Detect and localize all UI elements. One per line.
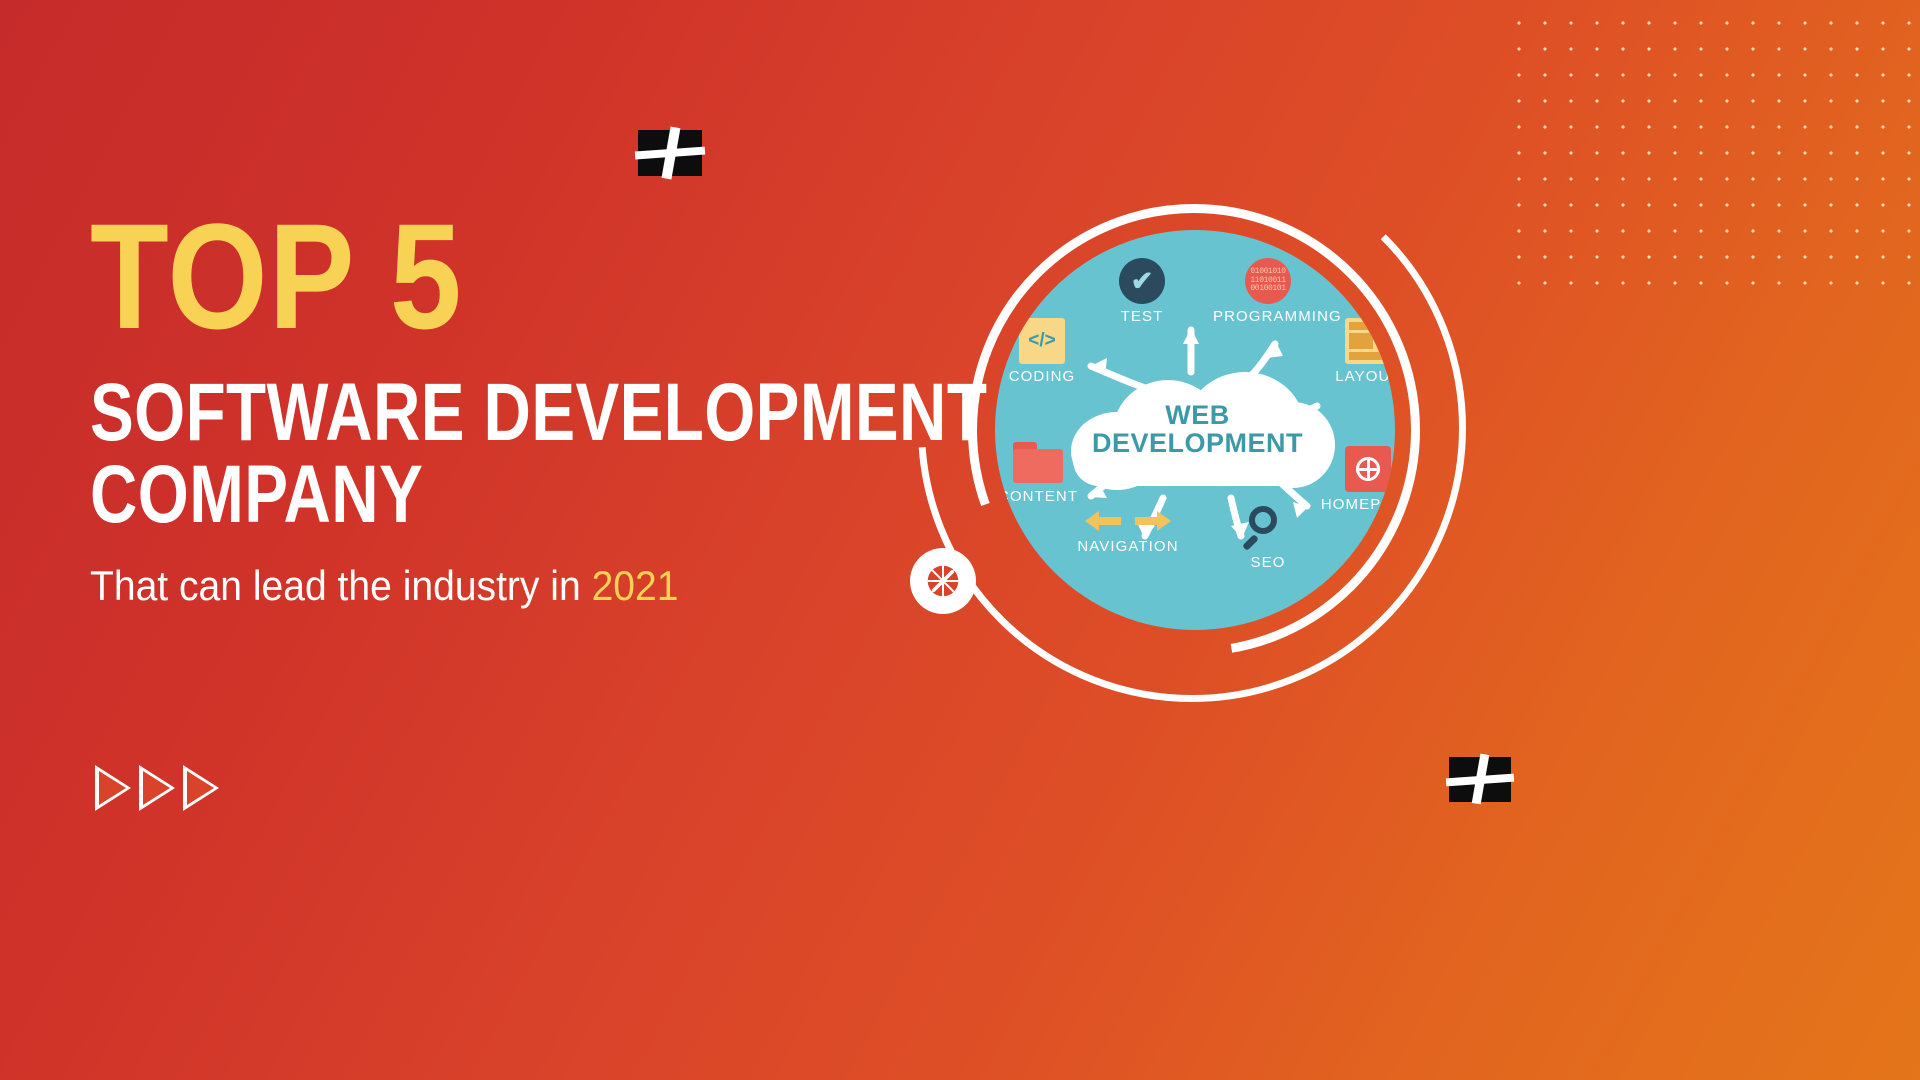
node-coding: </> CODING: [995, 318, 1097, 385]
folder-icon: [1013, 442, 1063, 484]
wireframe-row: [1349, 322, 1387, 330]
page-title: SOFTWARE DEVELOPMENT COMPANY: [90, 372, 794, 536]
folder-body: [1013, 449, 1063, 483]
double-arrow-glyph: [1085, 509, 1171, 533]
triangle-arrow-icon: [183, 765, 219, 811]
web-development-cloud: WEB DEVELOPMENT: [1065, 372, 1330, 494]
web-development-infographic: WEB DEVELOPMENT </> CODING ✔ TEST 010010…: [900, 130, 1500, 730]
wireframe-row: [1349, 352, 1387, 360]
triangle-arrow-icon: [95, 765, 131, 811]
check-circle-icon: ✔: [1119, 258, 1165, 304]
eyebrow-heading: TOP 5: [90, 215, 847, 338]
node-label-content: CONTENT: [995, 488, 1093, 505]
node-layout: LAYOUT: [1313, 318, 1395, 385]
gear-icon: [910, 548, 976, 614]
magnifier-lens: [1249, 506, 1277, 534]
node-label-layout: LAYOUT: [1313, 368, 1395, 385]
play-arrows-decoration: [95, 765, 219, 811]
magnifier-handle: [1242, 534, 1259, 551]
node-label-navigation: NAVIGATION: [1073, 538, 1183, 555]
title-line-2: COMPANY: [90, 454, 794, 536]
double-arrow-icon: [1083, 508, 1173, 534]
node-test: ✔ TEST: [1087, 258, 1197, 325]
subtitle-text: That can lead the industry in: [90, 562, 592, 609]
headline-block: TOP 5 SOFTWARE DEVELOPMENT COMPANY That …: [90, 215, 970, 610]
wireframe-icon: [1345, 318, 1391, 364]
dot-grid-pattern: [1500, 0, 1920, 290]
globe-glyph: [1356, 457, 1380, 481]
infographic-disc: WEB DEVELOPMENT </> CODING ✔ TEST 010010…: [995, 230, 1395, 630]
node-programming: 010010101101001100100101 PROGRAMMING: [1213, 258, 1323, 325]
magnifier-icon: [1245, 504, 1291, 550]
node-label-homepage: HOMEPAGE: [1313, 496, 1395, 513]
cloud-label: WEB DEVELOPMENT: [1065, 402, 1330, 457]
node-navigation: NAVIGATION: [1073, 508, 1183, 555]
triangle-arrow-icon: [139, 765, 175, 811]
binary-circle-icon: 010010101101001100100101: [1245, 258, 1291, 304]
code-brackets-icon: </>: [1019, 318, 1065, 364]
title-line-1: SOFTWARE DEVELOPMENT: [90, 367, 987, 458]
cloud-label-line-2: DEVELOPMENT: [1092, 428, 1303, 458]
node-label-coding: CODING: [995, 368, 1097, 385]
checkered-flag-icon-top: [638, 130, 702, 176]
gear-glyph: [925, 563, 961, 599]
wireframe-row: [1349, 333, 1373, 349]
node-label-programming: PROGRAMMING: [1213, 308, 1323, 325]
cloud-label-line-1: WEB: [1165, 400, 1230, 430]
checkered-flag-icon-bottom: [1449, 757, 1511, 802]
node-seo: SEO: [1213, 504, 1323, 571]
monitor-globe-icon: [1345, 446, 1391, 492]
subtitle: That can lead the industry in 2021: [90, 562, 908, 610]
node-label-test: TEST: [1087, 308, 1197, 325]
node-label-seo: SEO: [1213, 554, 1323, 571]
subtitle-year: 2021: [592, 562, 679, 609]
